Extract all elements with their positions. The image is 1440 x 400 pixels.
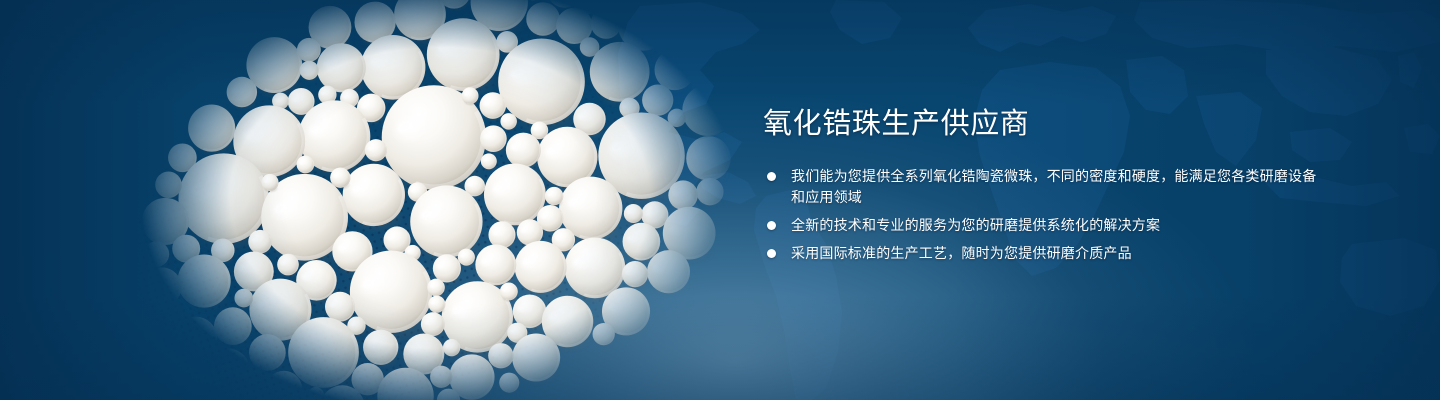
bullet-dot-icon [767, 249, 776, 258]
list-item-label: 我们能为您提供全系列氧化锆陶瓷微珠，不同的密度和硬度，能满足您各类研磨设备和应用… [791, 168, 1316, 205]
feature-bullet-list: 我们能为您提供全系列氧化锆陶瓷微珠，不同的密度和硬度，能满足您各类研磨设备和应用… [763, 166, 1323, 264]
bullet-dot-icon [767, 172, 776, 181]
list-item: 采用国际标准的生产工艺，随时为您提供研磨介质产品 [763, 243, 1323, 264]
list-item: 我们能为您提供全系列氧化锆陶瓷微珠，不同的密度和硬度，能满足您各类研磨设备和应用… [763, 166, 1323, 208]
bullet-dot-icon [767, 221, 776, 230]
page-title: 氧化锆珠生产供应商 [763, 104, 1323, 144]
list-item-label: 全新的技术和专业的服务为您的研磨提供系统化的解决方案 [791, 217, 1160, 233]
zirconia-bead-cluster-image [120, 0, 760, 400]
list-item-label: 采用国际标准的生产工艺，随时为您提供研磨介质产品 [791, 245, 1132, 261]
list-item: 全新的技术和专业的服务为您的研磨提供系统化的解决方案 [763, 215, 1323, 236]
hero-banner: 氧化锆珠生产供应商 我们能为您提供全系列氧化锆陶瓷微珠，不同的密度和硬度，能满足… [0, 0, 1440, 400]
banner-copy: 氧化锆珠生产供应商 我们能为您提供全系列氧化锆陶瓷微珠，不同的密度和硬度，能满足… [763, 104, 1323, 264]
